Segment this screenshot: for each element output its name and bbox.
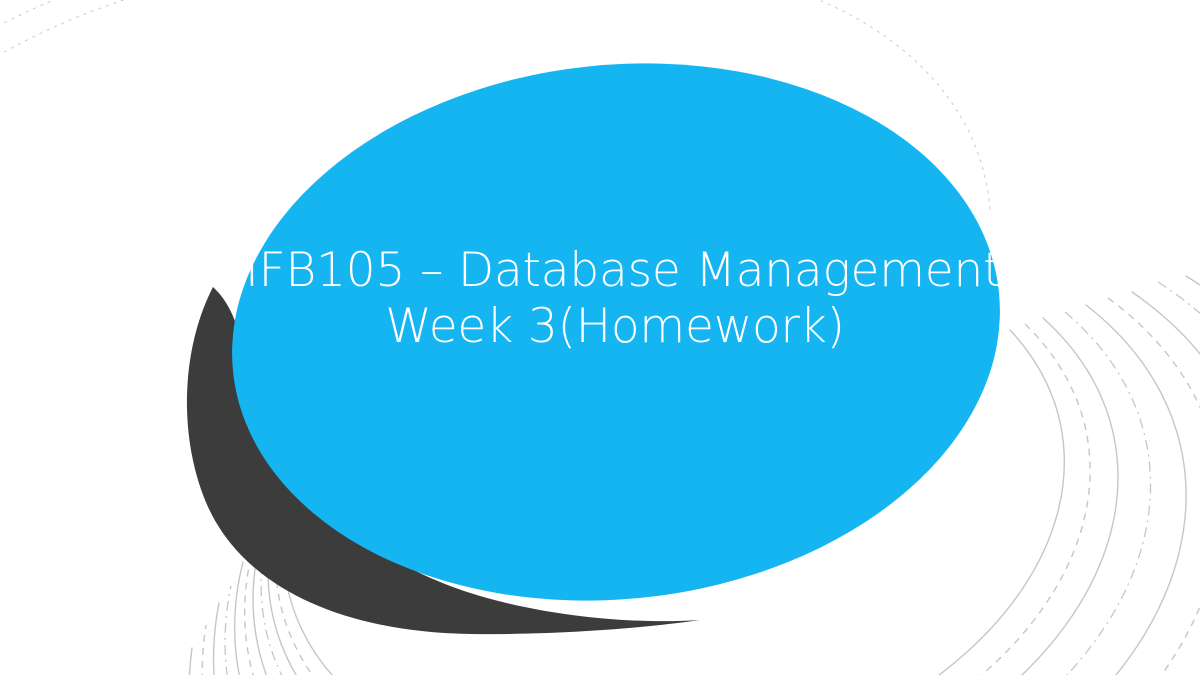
slide-canvas: IFB105 – Database Management Week 3(Home… xyxy=(0,0,1200,675)
title-layer: IFB105 – Database Management Week 3(Home… xyxy=(0,0,1200,675)
slide-title: IFB105 – Database Management Week 3(Home… xyxy=(245,243,985,355)
slide-title-line-2: Week 3(Homework) xyxy=(245,299,985,355)
slide-title-line-1: IFB105 – Database Management xyxy=(245,243,985,299)
